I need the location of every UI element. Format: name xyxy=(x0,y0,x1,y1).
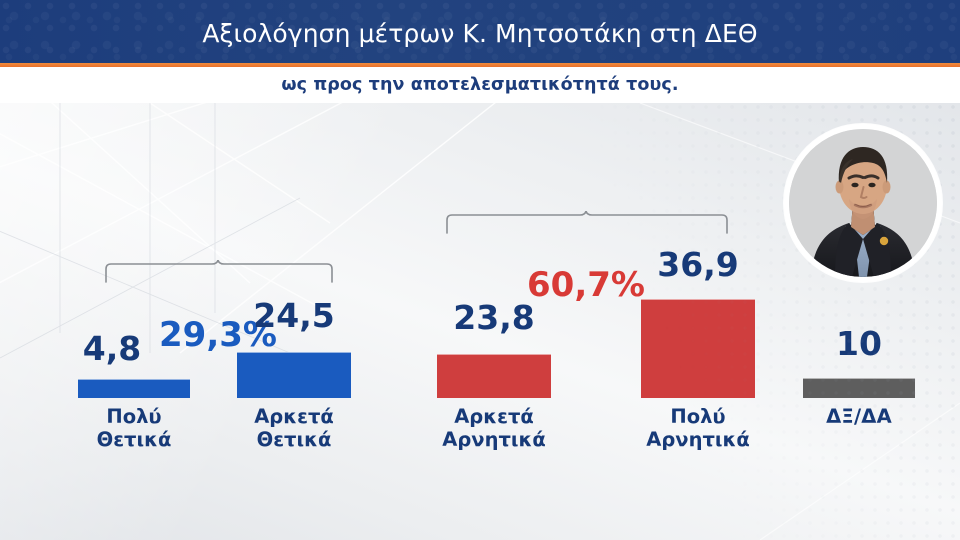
bar-value-2: 23,8 xyxy=(437,301,551,334)
bar-label-3: Πολύ Αρνητικά xyxy=(622,406,774,451)
bracket-negative xyxy=(445,211,729,235)
bar-4[interactable] xyxy=(803,378,915,398)
portrait-frame xyxy=(784,124,942,282)
portrait-mitsotakis xyxy=(789,129,937,277)
bar-label-4: ΔΞ/ΔΑ xyxy=(783,406,935,429)
bar-value-1: 24,5 xyxy=(237,299,351,332)
bar-1[interactable] xyxy=(237,352,351,398)
bar-0[interactable] xyxy=(78,379,190,398)
bar-label-1: Αρκετά Θετικά xyxy=(218,406,370,451)
bar-value-0: 4,8 xyxy=(56,332,168,365)
page-title: Αξιολόγηση μέτρων Κ. Μητσοτάκη στη ΔΕΘ xyxy=(0,0,960,63)
bar-value-4: 10 xyxy=(803,327,915,360)
bar-label-0: Πολύ Θετικά xyxy=(58,406,210,451)
bar-label-2: Αρκετά Αρνητικά xyxy=(418,406,570,451)
header-banner: Αξιολόγηση μέτρων Κ. Μητσοτάκη στη ΔΕΘ xyxy=(0,0,960,63)
bar-2[interactable] xyxy=(437,354,551,398)
bar-value-3: 36,9 xyxy=(641,248,755,281)
poll-graphic: Αξιολόγηση μέτρων Κ. Μητσοτάκη στη ΔΕΘ ω… xyxy=(0,0,960,540)
page-subtitle: ως προς την αποτελεσματικότητά τους. xyxy=(281,75,678,95)
bracket-positive xyxy=(104,260,334,284)
bar-3[interactable] xyxy=(641,299,755,398)
subtitle-band: ως προς την αποτελεσματικότητά τους. xyxy=(0,67,960,103)
